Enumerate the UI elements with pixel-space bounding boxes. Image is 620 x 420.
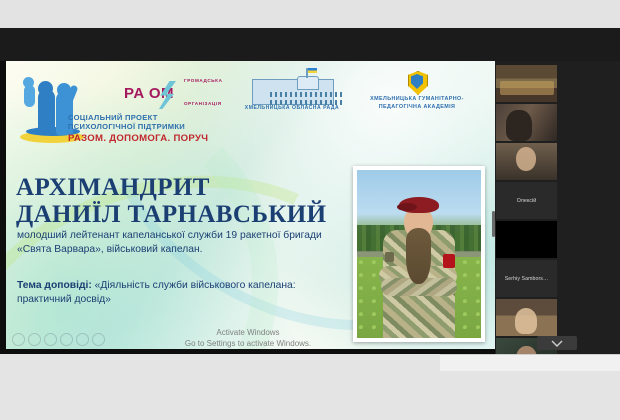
speaker-photo: [353, 166, 485, 342]
zoom-icon[interactable]: [76, 333, 89, 346]
slide-grid-icon[interactable]: [60, 333, 73, 346]
watermark-line-1: Activate Windows: [178, 327, 318, 338]
background-window[interactable]: [440, 354, 620, 371]
previous-slide-icon[interactable]: [12, 333, 25, 346]
participant-tile[interactable]: [496, 104, 557, 141]
speaker-title-line-1: АРХІМАНДРИТ: [16, 174, 346, 201]
project-slogan: РАЗОМ. ДОПОМОГА. ПОРУЧ: [68, 133, 208, 144]
project-line-2: ПСИХОЛОГІЧНОЇ ПІДТРИМКИ: [68, 122, 208, 131]
participant-video: [496, 299, 557, 336]
razom-org-logo: PA OM ГРОМАДСЬКА ОРГАНІЗАЦІЯ: [124, 79, 229, 109]
speaker-title-line-2: ДАНИЇЛ ТАРНАВСЬКИЙ: [16, 201, 346, 228]
meeting-topbar: [0, 28, 620, 61]
activate-windows-watermark: Activate Windows Go to Settings to activ…: [178, 327, 318, 349]
participant-video: [496, 104, 557, 141]
desktop-background: [0, 354, 620, 420]
participant-tile[interactable]: [496, 143, 557, 180]
pen-icon[interactable]: [44, 333, 57, 346]
watermark-line-2: Go to Settings to activate Windows.: [178, 338, 318, 349]
scroll-down-button[interactable]: [537, 336, 577, 350]
next-slide-icon[interactable]: [28, 333, 41, 346]
participant-tile[interactable]: [496, 299, 557, 336]
participant-tile[interactable]: Олексій: [496, 182, 557, 219]
participant-name: Олексій: [496, 198, 557, 204]
presentation-controls[interactable]: [12, 333, 105, 346]
oblast-council-caption: ХМЕЛЬНИЦЬКА ОБЛАСНА РАДА: [238, 105, 346, 111]
meeting-window: PA OM ГРОМАДСЬКА ОРГАНІЗАЦІЯ СОЦІАЛЬНИЙ …: [0, 28, 620, 354]
talk-topic: Тема доповіді: «Діяльність служби військ…: [17, 279, 337, 307]
screen: PA OM ГРОМАДСЬКА ОРГАНІЗАЦІЯ СОЦІАЛЬНИЙ …: [0, 0, 620, 420]
chevron-down-icon: [551, 340, 563, 347]
participant-grid: Олексій Serhiy Sambors… Ольга Тарашев… А…: [495, 65, 620, 354]
participant-video: [496, 65, 557, 102]
project-title-block: СОЦІАЛЬНИЙ ПРОЕКТ ПСИХОЛОГІЧНОЇ ПІДТРИМК…: [68, 113, 208, 144]
building-icon: [252, 79, 334, 105]
more-options-icon[interactable]: [92, 333, 105, 346]
oblast-council-logo: ХМЕЛЬНИЦЬКА ОБЛАСНА РАДА: [238, 73, 346, 111]
speaker-description: молодший лейтенант капеланської служби 1…: [17, 229, 337, 257]
talk-topic-label: Тема доповіді:: [17, 280, 92, 291]
participant-tile[interactable]: Serhiy Sambors…: [496, 260, 557, 297]
participant-rail[interactable]: Олексій Serhiy Sambors… Ольга Тарашев… А…: [495, 61, 620, 354]
org-sub-bottom: ОРГАНІЗАЦІЯ: [184, 101, 222, 106]
academy-caption: ХМЕЛЬНИЦЬКА ГУМАНІТАРНО-ПЕДАГОГІЧНА АКАД…: [358, 96, 476, 111]
participant-name: Serhiy Sambors…: [496, 276, 557, 282]
project-line-1: СОЦІАЛЬНИЙ ПРОЕКТ: [68, 113, 208, 122]
participant-video: [496, 143, 557, 180]
participant-tile[interactable]: [496, 65, 557, 102]
presentation-slide: PA OM ГРОМАДСЬКА ОРГАНІЗАЦІЯ СОЦІАЛЬНИЙ …: [6, 61, 495, 349]
shared-screen-stage[interactable]: PA OM ГРОМАДСЬКА ОРГАНІЗАЦІЯ СОЦІАЛЬНИЙ …: [0, 61, 495, 354]
org-sub-top: ГРОМАДСЬКА: [184, 78, 223, 83]
participant-tile[interactable]: [496, 221, 557, 258]
speaker-title: АРХІМАНДРИТ ДАНИЇЛ ТАРНАВСЬКИЙ: [16, 174, 346, 228]
